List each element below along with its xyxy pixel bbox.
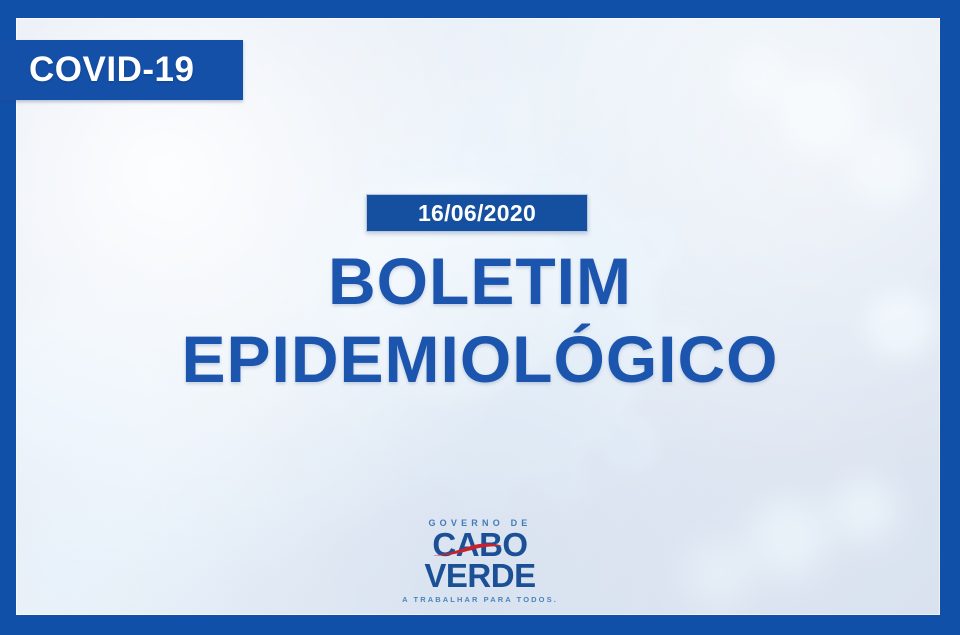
- covid-badge-label: COVID-19: [0, 50, 194, 90]
- date-badge: 16/06/2020: [366, 194, 588, 232]
- covid-badge: COVID-19: [0, 40, 243, 100]
- coronavirus-particle-icon: [16, 18, 940, 615]
- background-sheen: [16, 18, 940, 615]
- covid-bulletin-poster: COVID-19 16/06/2020 BOLETIM EPIDEMIOLÓGI…: [0, 0, 960, 635]
- plate-inner-edge: [16, 18, 940, 615]
- poster-background: [16, 18, 940, 615]
- date-badge-label: 16/06/2020: [418, 200, 536, 227]
